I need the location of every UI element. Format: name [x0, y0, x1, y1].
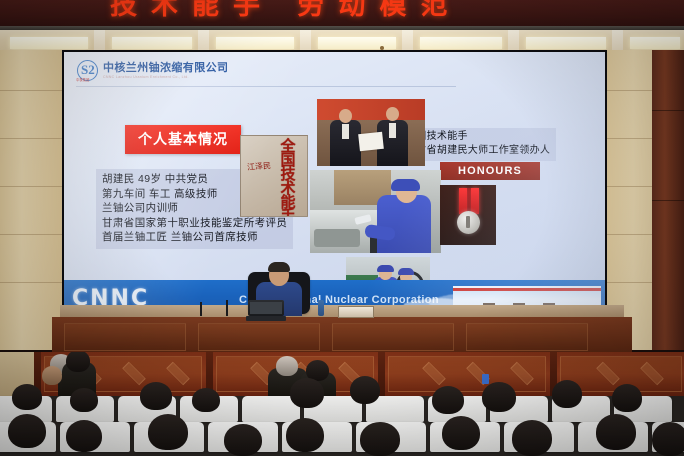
- medal-disc: [457, 211, 480, 234]
- desk-front-panel: [52, 317, 632, 357]
- ceiling-light-panel: [420, 37, 502, 49]
- water-bottle: [318, 300, 324, 316]
- ceiling-light-panel: [216, 37, 294, 49]
- calligraphy-text: 全国技术能手: [275, 140, 301, 217]
- audience-head: [596, 414, 636, 450]
- audience-head: [552, 380, 582, 408]
- audience-head: [612, 384, 642, 412]
- audience-head: [512, 420, 552, 456]
- slide-logo: S2 中核集团 中核兰州铀浓缩有限公司 CNNC Lanzhou Uranium…: [76, 60, 228, 82]
- ceiling-light-panel: [10, 37, 88, 49]
- audience-head: [442, 416, 480, 450]
- slide-company-name-en: CNNC Lanzhou Uranium Enrichment Co., Ltd…: [103, 76, 228, 80]
- hall-banner-text: 技术能手 劳动模范: [110, 0, 461, 22]
- photo-lathe-worker: [310, 170, 441, 253]
- ceiling-light-panel: [318, 37, 396, 49]
- logo-mark-letter: S2: [81, 62, 95, 78]
- audience-head: [8, 414, 46, 448]
- audience-head: [360, 422, 400, 456]
- audience-head: [66, 420, 102, 452]
- honours-banner: HONOURS: [440, 162, 540, 180]
- slide-header-divider: [76, 86, 456, 87]
- info-line: 甘肃省国家第十职业技能鉴定所考评员: [102, 216, 287, 231]
- audience-head: [350, 376, 380, 404]
- audience-head: [432, 386, 464, 414]
- photo-medal: [440, 185, 496, 245]
- projection-screen: S2 中核集团 中核兰州铀浓缩有限公司 CNNC Lanzhou Uranium…: [62, 50, 607, 320]
- audience-head: [140, 382, 172, 410]
- photo-calligraphy-plaque: 全国技术能手 江泽民: [240, 135, 308, 217]
- info-line: 首届兰铀工匠 兰铀公司首席技师: [102, 230, 287, 245]
- audience-head: [290, 378, 324, 408]
- certificate: [358, 132, 384, 151]
- audience-head: [286, 418, 324, 452]
- audience-head: [42, 366, 62, 385]
- phone-screen: [482, 374, 489, 384]
- presenter-laptop: [246, 300, 286, 322]
- slide-company-name-cn: 中核兰州铀浓缩有限公司: [103, 63, 228, 74]
- microphone-stem: [226, 300, 228, 316]
- ceiling-light-panel: [630, 37, 680, 49]
- presenter-hair: [268, 262, 290, 272]
- audience-area: [0, 352, 684, 456]
- screenshot-root: 技术能手 劳动模范 S2: [0, 0, 684, 456]
- ceiling-light-panel: [526, 37, 606, 49]
- audience-head: [482, 382, 516, 412]
- slide-section-title: 个人基本情况: [125, 125, 241, 154]
- right-note-line: 甘肃省胡建民大师工作室领办人: [406, 144, 550, 158]
- microphone-stem: [200, 302, 202, 316]
- logo-mark-subtext: 中核集团: [76, 77, 90, 82]
- audience-head: [192, 388, 220, 412]
- audience-head: [276, 356, 298, 376]
- audience-head: [12, 384, 42, 410]
- desk-nameplate: [338, 306, 374, 318]
- audience-head: [652, 422, 684, 456]
- audience-head: [148, 414, 188, 450]
- right-note-line: 全国技术能手: [406, 130, 550, 144]
- cnnc-logo-icon: S2 中核集团: [76, 60, 98, 82]
- calligraphy-signature: 江泽民: [247, 161, 272, 172]
- ceiling-light-panel: [112, 37, 192, 49]
- photo-award-ceremony: [317, 99, 425, 166]
- audience-head: [224, 424, 262, 456]
- audience-head: [70, 388, 98, 412]
- audience-head: [66, 352, 90, 372]
